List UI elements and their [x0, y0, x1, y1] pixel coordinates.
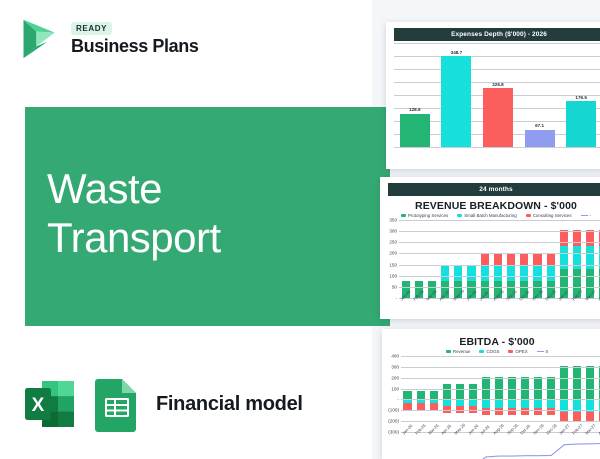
- bar-segment: [507, 253, 515, 265]
- bar-segment: [533, 253, 541, 265]
- y-tick-label: 50: [380, 284, 397, 289]
- y-tick-label: -: [380, 296, 397, 301]
- bar-segment: [520, 253, 528, 265]
- bar-segment: [560, 246, 568, 270]
- bar: [400, 114, 430, 148]
- bar-segment-negative: [495, 399, 503, 407]
- legend-label: COGS: [486, 349, 499, 354]
- bar-segment-negative: [560, 412, 568, 421]
- bar-segment-positive: [430, 391, 438, 399]
- legend-item: -: [581, 213, 591, 218]
- chart1-title-band: Expenses Depth ($'000) - 2026: [394, 28, 600, 41]
- page-title: Waste Transport: [47, 165, 221, 262]
- bar-segment: [454, 265, 462, 281]
- slide-canvas: READY Business Plans Waste Transport X: [0, 0, 600, 459]
- legend-label: -: [590, 213, 591, 218]
- bar: [566, 101, 596, 147]
- y-tick-label: 100: [380, 273, 397, 278]
- legend-label: Prototyping Services: [408, 213, 448, 218]
- y-tick-label: (200): [382, 419, 399, 424]
- chart-card-expenses-depth[interactable]: Expenses Depth ($'000) - 2026 128.9348.7…: [386, 22, 600, 169]
- bar-segment-negative: [430, 403, 438, 410]
- y-tick-label: 100: [382, 386, 399, 391]
- bar-segment: [507, 265, 515, 281]
- bar-segment-negative: [586, 412, 594, 421]
- legend-swatch: [537, 351, 544, 353]
- bar-segment-positive: [586, 366, 594, 399]
- bar-segment-positive: [469, 384, 477, 400]
- chart2-x-axis: Jan-26Feb-26Mar-26Apr-26May-26Jun-26Jul-…: [399, 298, 600, 303]
- bar-segment: [560, 230, 568, 246]
- chart2-legend: Prototyping ServicesSmall Batch Manufact…: [380, 213, 600, 218]
- hero-block: Waste Transport: [25, 107, 390, 326]
- microsoft-excel-icon: X: [22, 376, 78, 432]
- bar-segment: [547, 253, 555, 265]
- bar-segment: [520, 265, 528, 281]
- legend-item: Prototyping Services: [401, 213, 448, 218]
- bar-segment: [533, 265, 541, 281]
- bar-segment-negative: [482, 399, 490, 407]
- legend-swatch: [401, 214, 406, 217]
- y-tick-label: 150: [380, 262, 397, 267]
- legend-swatch: [526, 214, 531, 217]
- bar-segment-negative: [534, 399, 542, 407]
- y-tick-label: 300: [382, 364, 399, 369]
- chart2-title: REVENUE BREAKDOWN - $'000: [380, 200, 600, 212]
- legend-label: Small Batch Manufacturing: [464, 213, 516, 218]
- bar: [525, 130, 555, 147]
- chart3-legend: RevenueCOGSOPEX0: [382, 349, 600, 354]
- legend-item: Small Batch Manufacturing: [457, 213, 516, 218]
- bar-segment-positive: [417, 391, 425, 399]
- chart3-x-axis: Jan-26Feb-26Mar-26Apr-26May-26Jun-26Jul-…: [401, 432, 600, 437]
- legend-label: Consulting Services: [533, 213, 572, 218]
- y-tick-label: 250: [380, 240, 397, 245]
- bar-column: 226.8: [477, 43, 519, 147]
- y-tick-label: 300: [380, 229, 397, 234]
- google-sheets-icon: [91, 376, 143, 432]
- y-tick-label: 400: [382, 354, 399, 359]
- y-tick-label: 350: [380, 218, 397, 223]
- legend-label: OPEX: [515, 349, 527, 354]
- y-tick-label: 200: [380, 251, 397, 256]
- bar-segment-positive: [573, 366, 581, 399]
- bar-value-label: 67.1: [535, 123, 544, 128]
- legend-label: 0: [546, 349, 548, 354]
- y-tick-label: 200: [382, 375, 399, 380]
- legend-label: Revenue: [453, 349, 471, 354]
- bar-segment: [494, 265, 502, 281]
- bar-segment: [467, 265, 475, 281]
- y-tick-label: -: [382, 397, 399, 402]
- play-arrow-logo-icon: [18, 16, 62, 62]
- ready-badge: READY: [71, 22, 112, 35]
- bar-column: 67.1: [519, 43, 561, 147]
- chart2-band-wrap: 24 months: [380, 177, 600, 196]
- legend-item: Consulting Services: [526, 213, 572, 218]
- bar-segment: [547, 265, 555, 281]
- brand-name: Business Plans: [71, 37, 198, 56]
- legend-swatch: [457, 214, 462, 217]
- brand-lockup: READY Business Plans: [18, 16, 198, 62]
- svg-text:X: X: [32, 395, 45, 416]
- bar-segment: [573, 230, 581, 246]
- bar-segment-negative: [417, 403, 425, 410]
- legend-swatch: [479, 350, 484, 353]
- legend-swatch: [508, 350, 513, 353]
- bar-segment-negative: [547, 399, 555, 407]
- bar-value-label: 128.9: [409, 107, 421, 112]
- chart-card-revenue-breakdown[interactable]: 24 months REVENUE BREAKDOWN - $'000 Prot…: [380, 177, 600, 319]
- bar-segment-positive: [443, 384, 451, 400]
- bar-segment-positive: [403, 391, 411, 399]
- bar-segment-positive: [560, 366, 568, 399]
- bar-segment: [586, 246, 594, 270]
- bar-column: 128.9: [394, 43, 436, 147]
- y-tick-label: (300): [382, 430, 399, 435]
- bar: [483, 88, 513, 147]
- bar-segment: [586, 230, 594, 246]
- format-row: X Financial model: [22, 376, 303, 432]
- chart3-title: EBITDA - $'000: [382, 336, 600, 348]
- bar-segment: [494, 253, 502, 265]
- bar-segment: [573, 246, 581, 270]
- bar-segment-negative: [403, 403, 411, 410]
- bar-segment-negative: [508, 399, 516, 407]
- bar-value-label: 348.7: [451, 50, 463, 55]
- bar-segment-negative: [573, 412, 581, 421]
- chart1-plot: 128.9348.7226.867.1176.5: [390, 43, 600, 147]
- bar-column: 176.5: [560, 43, 600, 147]
- chart1-band-wrap: Expenses Depth ($'000) - 2026: [386, 22, 600, 41]
- bar-value-label: 176.5: [575, 95, 587, 100]
- legend-swatch: [446, 350, 451, 353]
- chart1-bars: 128.9348.7226.867.1176.5: [394, 43, 600, 147]
- chart3-plot: 400300200100-(100)(200)(300): [382, 356, 600, 432]
- chart2-band: 24 months: [388, 183, 600, 196]
- bar-segment: [441, 265, 449, 281]
- bar-column: 348.7: [436, 43, 478, 147]
- legend-swatch: [581, 215, 588, 217]
- legend-item: Revenue: [446, 349, 471, 354]
- bar-segment: [481, 265, 489, 281]
- bar-value-label: 226.8: [492, 82, 504, 87]
- chart2-plot: 35030025020015010050-: [380, 220, 600, 298]
- bar-segment-negative: [521, 399, 529, 407]
- legend-item: 0: [537, 349, 548, 354]
- legend-item: COGS: [479, 349, 499, 354]
- y-tick-label: (100): [382, 408, 399, 413]
- bar: [441, 56, 471, 147]
- legend-item: OPEX: [508, 349, 527, 354]
- bar-segment-positive: [456, 384, 464, 400]
- financial-model-label: Financial model: [156, 393, 303, 416]
- brand-text: READY Business Plans: [71, 22, 198, 56]
- chart-card-ebitda[interactable]: EBITDA - $'000 RevenueCOGSOPEX0 40030020…: [382, 329, 600, 459]
